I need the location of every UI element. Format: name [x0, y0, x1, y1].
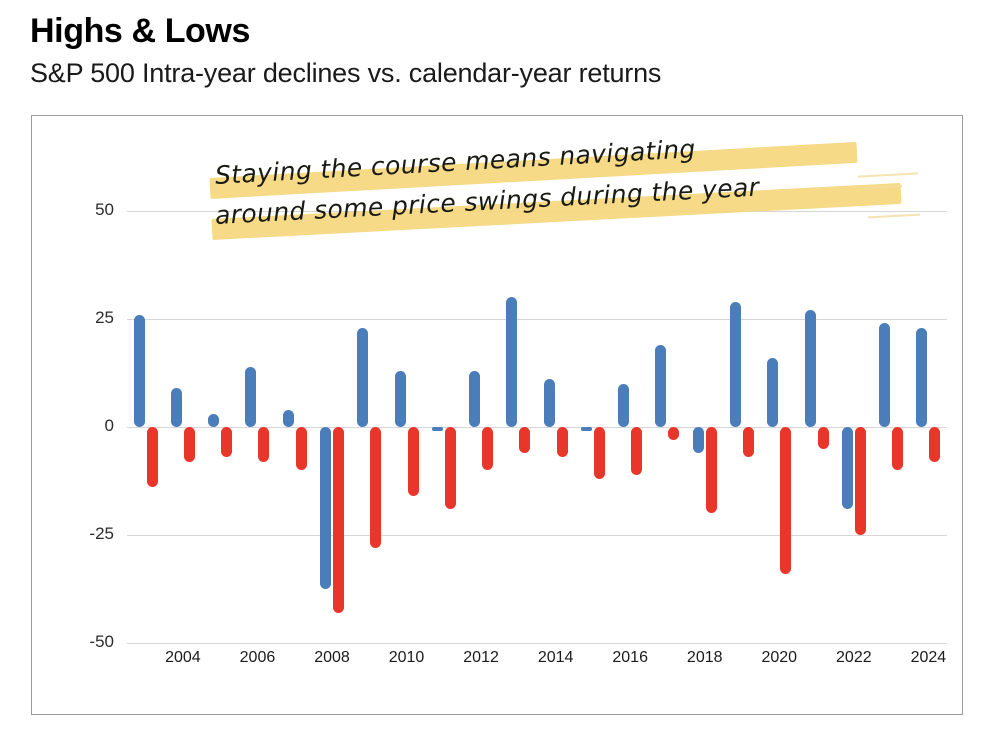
- bar-decline-2018: [706, 427, 717, 513]
- bar-return-2009: [357, 328, 368, 427]
- y-axis-label-50: 50: [54, 200, 114, 220]
- chart-plot-area: 50250-25-5020042006200820102012201420162…: [32, 116, 964, 716]
- bar-decline-2021: [818, 427, 829, 449]
- y-axis-label--25: -25: [54, 524, 114, 544]
- bar-decline-2007: [296, 427, 307, 470]
- y-axis-label--50: -50: [54, 632, 114, 652]
- x-axis-label-2014: 2014: [526, 649, 586, 667]
- bar-return-2020: [767, 358, 778, 427]
- x-axis-label-2008: 2008: [302, 649, 362, 667]
- x-axis-label-2024: 2024: [898, 649, 958, 667]
- x-axis-label-2020: 2020: [749, 649, 809, 667]
- bar-return-2022: [842, 427, 853, 509]
- gridline-50: [127, 211, 947, 212]
- bar-return-2011: [432, 427, 443, 431]
- x-axis-label-2022: 2022: [824, 649, 884, 667]
- x-axis-label-2010: 2010: [377, 649, 437, 667]
- bar-return-2012: [469, 371, 480, 427]
- bar-return-2005: [208, 414, 219, 427]
- bar-decline-2023: [892, 427, 903, 470]
- page-title: Highs & Lows: [30, 12, 250, 51]
- y-axis-label-0: 0: [54, 416, 114, 436]
- bar-decline-2024: [929, 427, 940, 462]
- bar-return-2018: [693, 427, 704, 453]
- gridline--25: [127, 535, 947, 536]
- bar-decline-2006: [258, 427, 269, 462]
- bar-decline-2017: [668, 427, 679, 440]
- bar-return-2017: [655, 345, 666, 427]
- y-axis-label-25: 25: [54, 308, 114, 328]
- bar-decline-2015: [594, 427, 605, 479]
- bar-return-2007: [283, 410, 294, 427]
- bar-decline-2009: [370, 427, 381, 548]
- bar-decline-2013: [519, 427, 530, 453]
- bar-return-2013: [506, 297, 517, 427]
- bar-decline-2012: [482, 427, 493, 470]
- bar-return-2003: [134, 315, 145, 427]
- x-axis-label-2018: 2018: [675, 649, 735, 667]
- bar-decline-2010: [408, 427, 419, 496]
- bar-return-2010: [395, 371, 406, 427]
- bar-decline-2020: [780, 427, 791, 574]
- bar-decline-2003: [147, 427, 158, 487]
- bar-decline-2014: [557, 427, 568, 457]
- bar-return-2024: [916, 328, 927, 427]
- page-subtitle: S&P 500 Intra-year declines vs. calendar…: [30, 58, 661, 89]
- bar-decline-2011: [445, 427, 456, 509]
- x-axis-label-2004: 2004: [153, 649, 213, 667]
- bar-decline-2016: [631, 427, 642, 475]
- bar-decline-2004: [184, 427, 195, 462]
- bar-return-2019: [730, 302, 741, 427]
- bar-decline-2008: [333, 427, 344, 613]
- bar-decline-2019: [743, 427, 754, 457]
- bar-return-2016: [618, 384, 629, 427]
- bar-return-2008: [320, 427, 331, 589]
- gridline--50: [127, 643, 947, 644]
- bar-return-2015: [581, 427, 592, 431]
- chart-container: 50250-25-5020042006200820102012201420162…: [31, 115, 963, 715]
- gridline-25: [127, 319, 947, 320]
- bar-return-2006: [245, 367, 256, 427]
- bar-decline-2005: [221, 427, 232, 457]
- bar-decline-2022: [855, 427, 866, 535]
- x-axis-label-2006: 2006: [227, 649, 287, 667]
- bar-return-2021: [805, 310, 816, 427]
- bar-return-2023: [879, 323, 890, 427]
- bar-return-2014: [544, 379, 555, 427]
- x-axis-label-2016: 2016: [600, 649, 660, 667]
- x-axis-label-2012: 2012: [451, 649, 511, 667]
- bar-return-2004: [171, 388, 182, 427]
